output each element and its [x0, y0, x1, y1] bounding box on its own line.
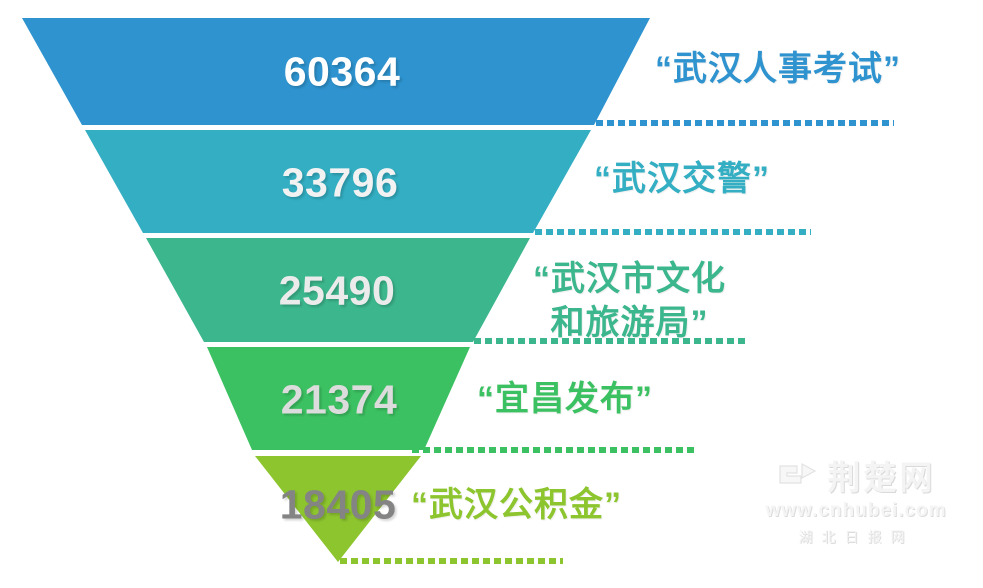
- funnel-value-2: 33796: [282, 163, 399, 204]
- funnel-label-4: “宜昌发布”: [477, 378, 653, 422]
- funnel-label-5: “武汉公积金”: [411, 484, 622, 528]
- leader-line-5: [340, 558, 563, 564]
- leader-line-4: [412, 447, 695, 453]
- funnel-label-1: “武汉人事考试”: [655, 48, 901, 92]
- funnel-chart-canvas: 60364 33796 25490 21374 18405 “武汉人事考试” “…: [0, 0, 983, 588]
- funnel-value-1: 60364: [284, 52, 401, 93]
- funnel-label-3: “武汉市文化 和旅游局”: [533, 258, 726, 345]
- funnel-value-5: 18405: [280, 485, 397, 526]
- leader-line-2: [535, 229, 811, 235]
- funnel-label-2: “武汉交警”: [594, 158, 770, 202]
- leader-line-1: [596, 120, 894, 126]
- funnel-value-4: 21374: [281, 380, 398, 421]
- funnel-value-3: 25490: [279, 271, 396, 312]
- leader-line-3: [474, 338, 749, 344]
